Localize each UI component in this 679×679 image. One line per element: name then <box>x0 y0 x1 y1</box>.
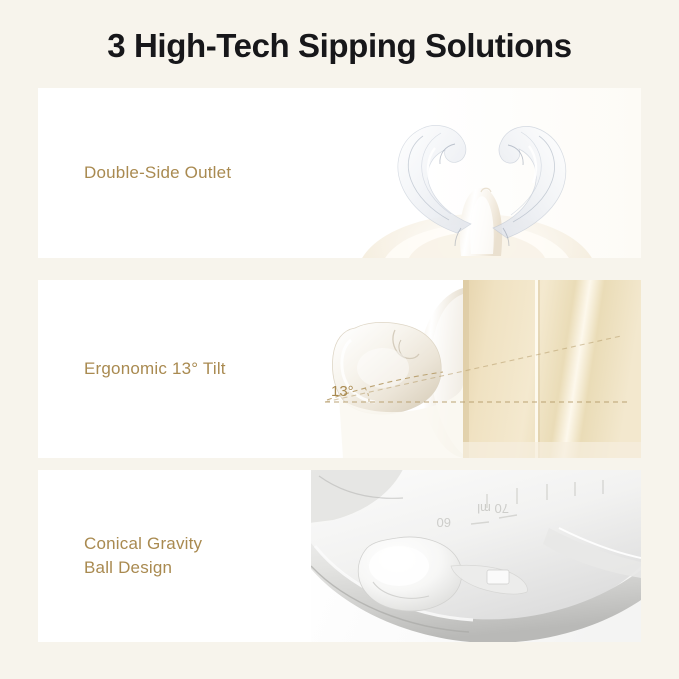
volume-mark-70ml: 70 ml <box>477 501 509 516</box>
page-title: 3 High-Tech Sipping Solutions <box>0 26 679 66</box>
feature-card-double-side-outlet: Double-Side Outlet <box>38 88 641 258</box>
angle-annotation-text: 13° <box>331 383 354 400</box>
feature-label-gravity-ball: Conical Gravity Ball Design <box>84 532 202 580</box>
bottle-gravity-ball-photo: 70 ml 60 <box>311 470 641 642</box>
nipple-tilt-angle-photo: 13° <box>291 280 641 458</box>
nipple-double-outlet-photo <box>311 88 641 258</box>
feature-card-ergonomic-tilt: 13° Ergonomic 13° Tilt <box>38 280 641 458</box>
infographic-page: 3 High-Tech Sipping Solutions <box>0 0 679 679</box>
feature-label-ergonomic-tilt: Ergonomic 13° Tilt <box>84 357 226 381</box>
volume-mark-60: 60 <box>437 515 451 530</box>
feature-label-double-side-outlet: Double-Side Outlet <box>84 161 231 185</box>
feature-card-gravity-ball: 70 ml 60 Conical Gravity Ball Design <box>38 470 641 642</box>
